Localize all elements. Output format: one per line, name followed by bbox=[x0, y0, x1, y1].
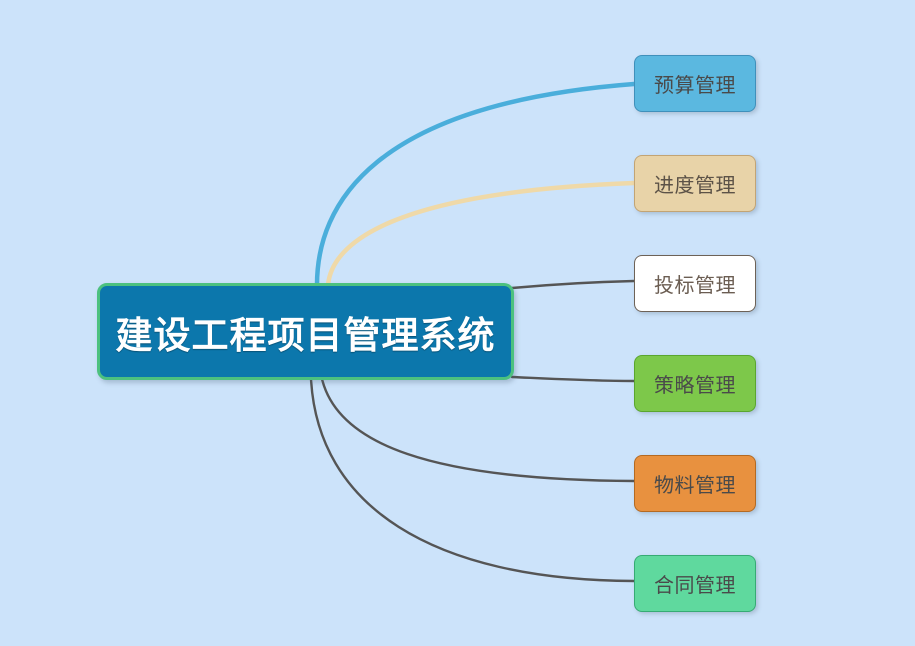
branch-node-label: 进度管理 bbox=[654, 169, 736, 198]
connector-line bbox=[322, 379, 634, 481]
branch-node-bidding-management[interactable]: 投标管理 bbox=[634, 255, 756, 312]
connector-line bbox=[512, 281, 634, 288]
branch-node-label: 物料管理 bbox=[654, 469, 736, 498]
branch-node-strategy-management[interactable]: 策略管理 bbox=[634, 355, 756, 412]
branch-node-schedule-management[interactable]: 进度管理 bbox=[634, 155, 756, 212]
branch-node-label: 合同管理 bbox=[654, 569, 736, 598]
branch-node-material-management[interactable]: 物料管理 bbox=[634, 455, 756, 512]
connector-line bbox=[512, 377, 634, 381]
central-node[interactable]: 建设工程项目管理系统 bbox=[97, 283, 514, 380]
branch-node-contract-management[interactable]: 合同管理 bbox=[634, 555, 756, 612]
branch-node-label: 预算管理 bbox=[654, 69, 736, 98]
mindmap-canvas: 建设工程项目管理系统 预算管理 进度管理 投标管理 策略管理 物料管理 合同管理 bbox=[0, 0, 915, 646]
branch-node-budget-management[interactable]: 预算管理 bbox=[634, 55, 756, 112]
branch-node-label: 策略管理 bbox=[654, 369, 736, 398]
branch-node-label: 投标管理 bbox=[654, 269, 736, 298]
connector-line bbox=[317, 84, 634, 285]
connector-line bbox=[311, 379, 634, 581]
central-node-label: 建设工程项目管理系统 bbox=[116, 305, 496, 359]
connector-line bbox=[328, 183, 634, 285]
